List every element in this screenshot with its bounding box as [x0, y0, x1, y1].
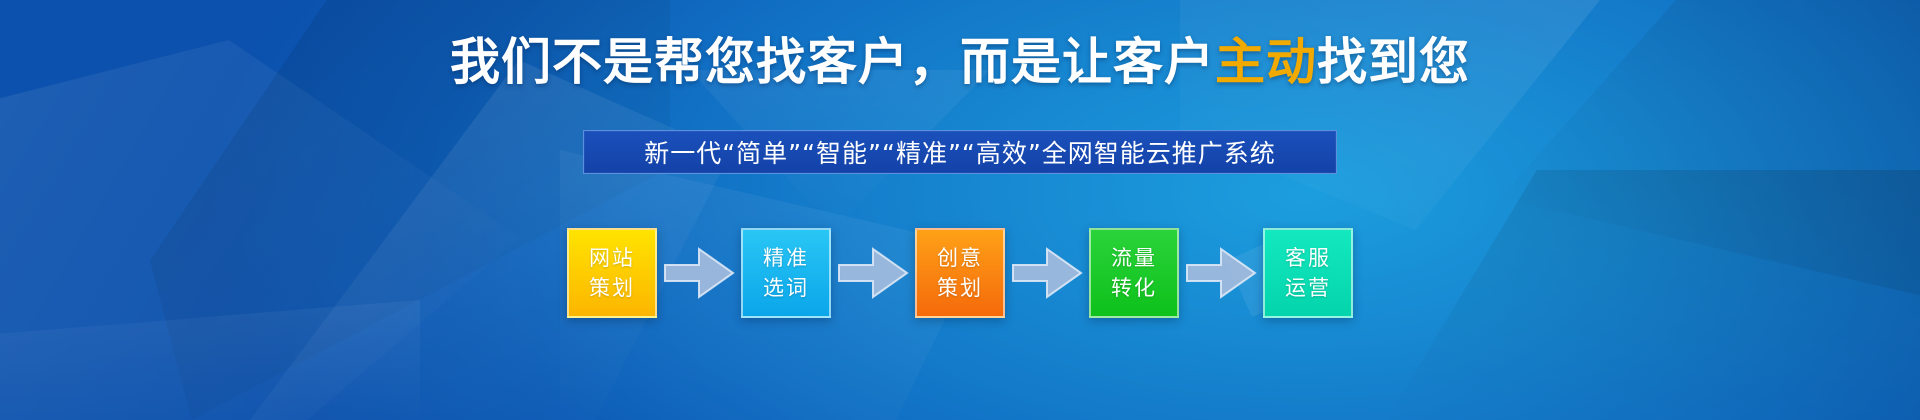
headline-accent: 主动 [1215, 33, 1317, 91]
flow-step-label-line1: 客服 [1285, 243, 1331, 273]
right-arrow-icon [1185, 245, 1257, 301]
subtitle-bar: 新一代“简单”“智能”“精准”“高效”全网智能云推广系统 [583, 130, 1337, 174]
flow-step-label-line2: 策划 [937, 273, 983, 303]
flow-step-label-line2: 转化 [1111, 273, 1157, 303]
flow-step-5[interactable]: 客服运营 [1263, 228, 1353, 318]
flow-step-1[interactable]: 网站策划 [567, 228, 657, 318]
flow-step-label-line2: 选词 [763, 273, 809, 303]
headline-part-1: 我们不是帮您找客户，而是让客户 [450, 33, 1215, 91]
flow-step-label-line1: 流量 [1111, 243, 1157, 273]
flow-step-4[interactable]: 流量转化 [1089, 228, 1179, 318]
flow-step-label-line2: 运营 [1285, 273, 1331, 303]
headline-part-2: 找到您 [1317, 33, 1470, 91]
flow-step-label-line1: 网站 [589, 243, 635, 273]
headline: 我们不是帮您找客户，而是让客户主动找到您 [0, 22, 1920, 94]
flow-step-label-line1: 精准 [763, 243, 809, 273]
process-flow: 网站策划精准选词创意策划流量转化客服运营 [0, 228, 1920, 318]
right-arrow-icon [837, 245, 909, 301]
flow-step-3[interactable]: 创意策划 [915, 228, 1005, 318]
right-arrow-icon [1011, 245, 1083, 301]
right-arrow-icon [663, 245, 735, 301]
flow-step-2[interactable]: 精准选词 [741, 228, 831, 318]
flow-step-label-line1: 创意 [937, 243, 983, 273]
subtitle-text: 新一代“简单”“智能”“精准”“高效”全网智能云推广系统 [644, 134, 1276, 170]
background-facet-9 [0, 300, 420, 420]
promo-banner: 我们不是帮您找客户，而是让客户主动找到您 新一代“简单”“智能”“精准”“高效”… [0, 0, 1920, 420]
flow-step-label-line2: 策划 [589, 273, 635, 303]
